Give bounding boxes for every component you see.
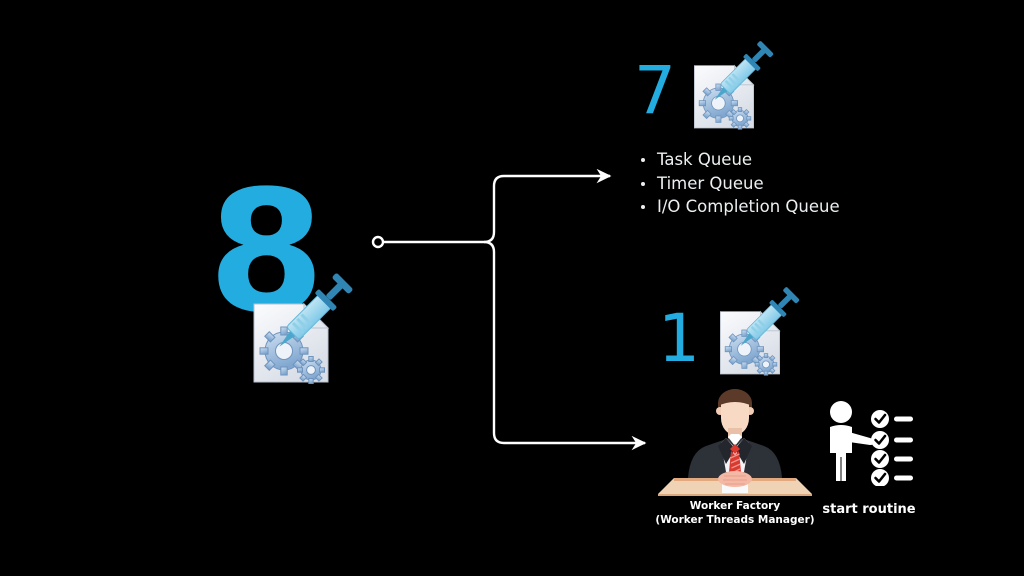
arrow-to-queues	[484, 176, 610, 242]
document-gears-syringe-icon-top	[688, 22, 800, 134]
connector-origin-dot	[373, 237, 383, 247]
arrow-to-worker-factory	[484, 242, 645, 443]
list-item: I/O Completion Queue	[636, 195, 840, 219]
document-gears-syringe-icon-bottom	[714, 268, 826, 380]
document-gears-syringe-icon-source	[246, 252, 386, 387]
start-routine-caption: start routine	[795, 503, 943, 517]
slide-canvas: 8	[0, 0, 1024, 576]
branch-top-numeral-7: 7	[634, 58, 676, 124]
person-checklist-icon	[818, 396, 926, 486]
list-item: Timer Queue	[636, 172, 840, 196]
branch-bottom-numeral-1: 1	[658, 306, 700, 372]
connector-graph	[0, 0, 1024, 576]
businessman-at-desk-icon	[652, 386, 818, 496]
queue-list: Task Queue Timer Queue I/O Completion Qu…	[636, 148, 840, 219]
list-item: Task Queue	[636, 148, 840, 172]
